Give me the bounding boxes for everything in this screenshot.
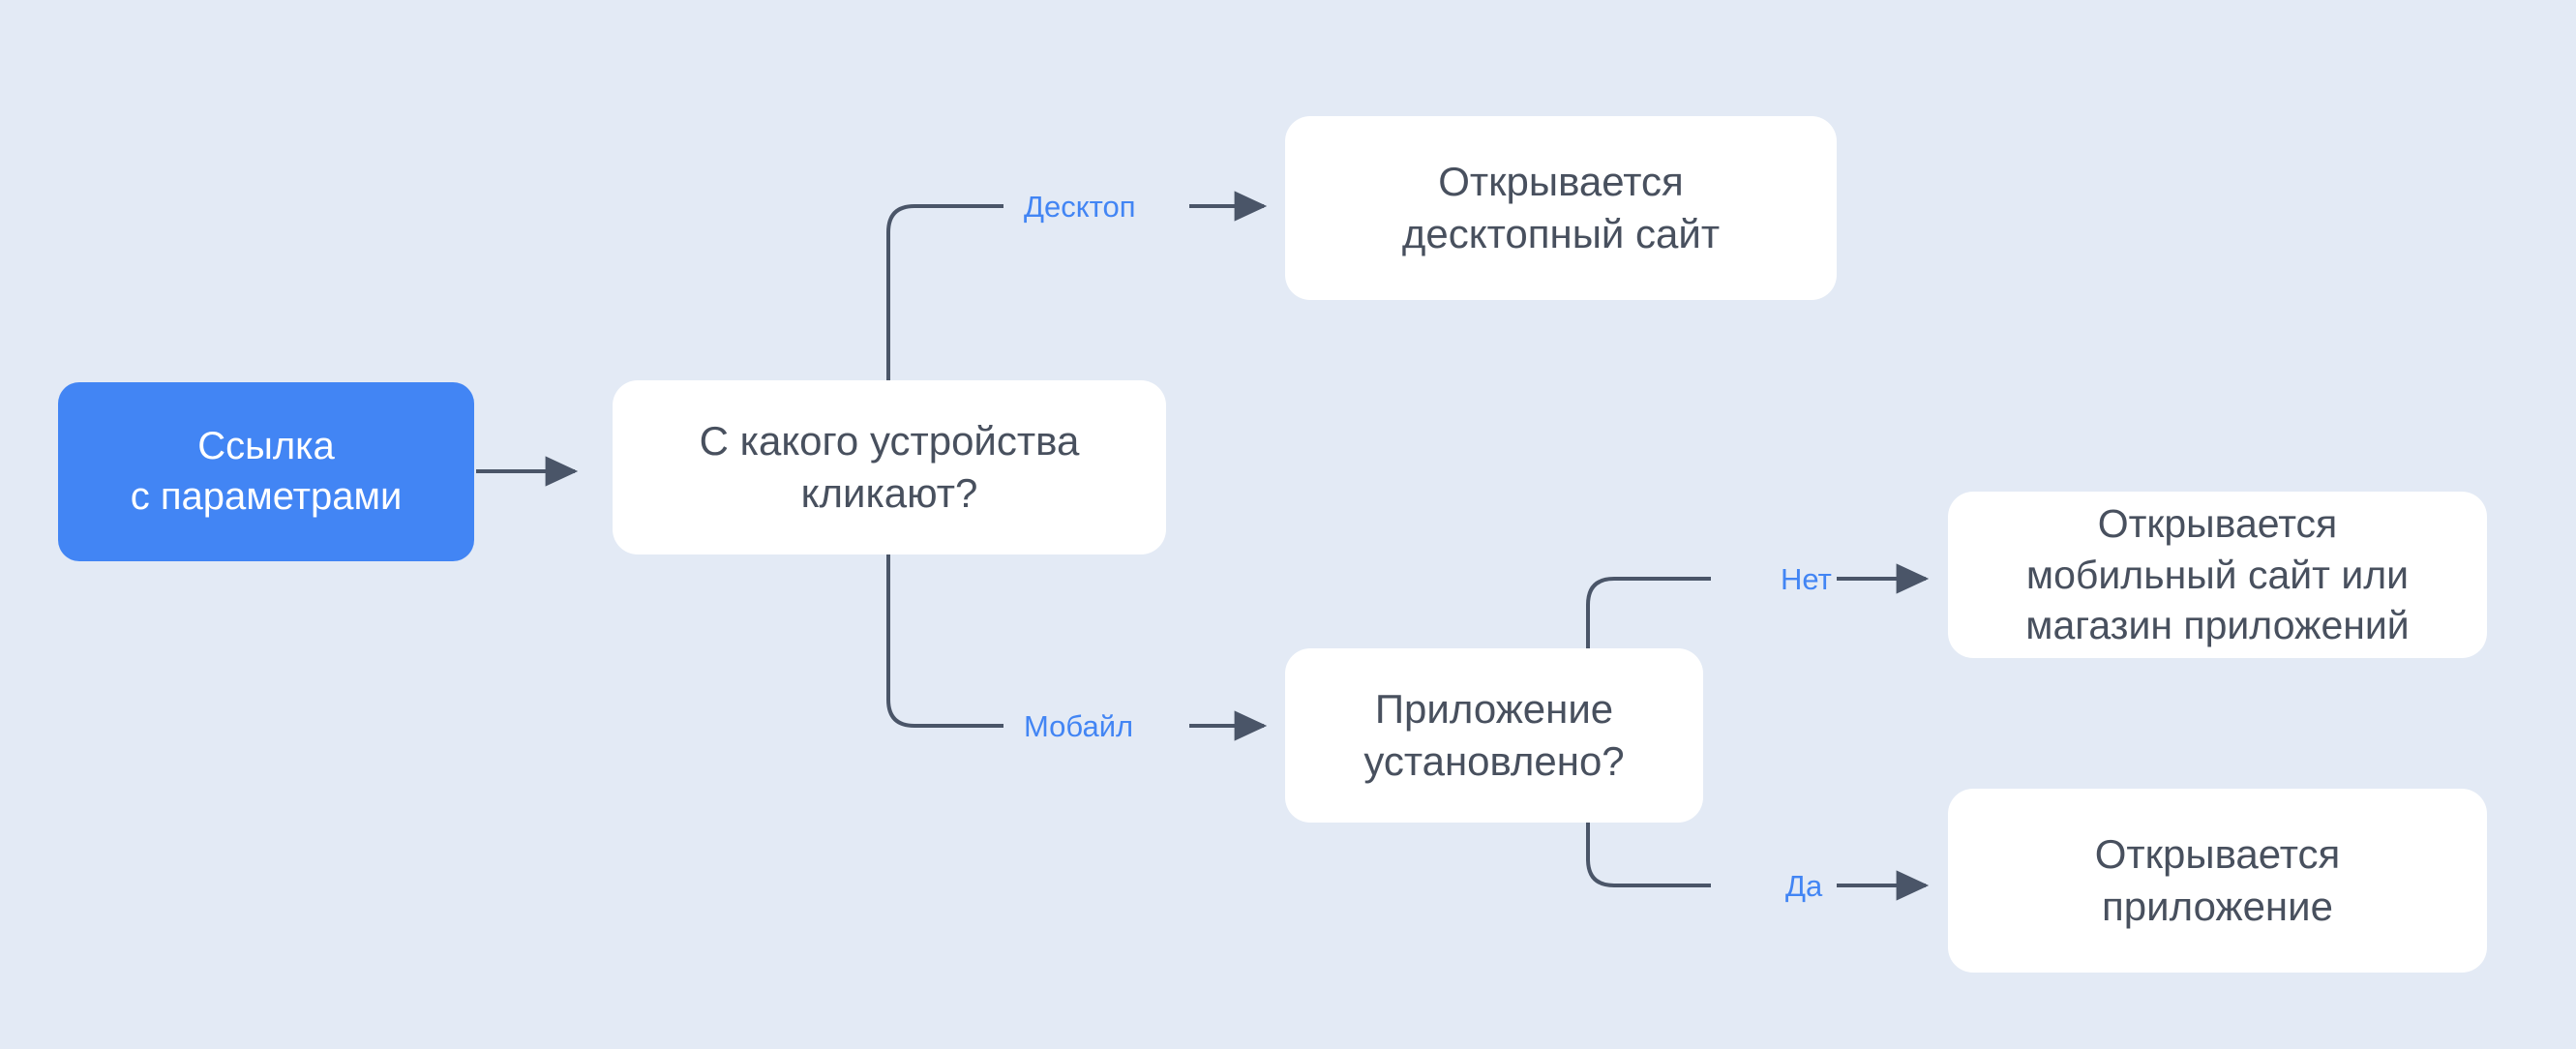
edge-label-desktop: Десктоп bbox=[1024, 192, 1136, 222]
node-link-with-parameters[interactable]: Ссылка с параметрами bbox=[58, 382, 474, 561]
flowchart-canvas: Ссылка с параметрами С какого устройства… bbox=[0, 0, 2576, 1049]
node-app-installed-question[interactable]: Приложение установлено? bbox=[1285, 648, 1703, 823]
connector-device-to-mobile bbox=[888, 554, 1264, 726]
node-mobile-site-result[interactable]: Открывается мобильный сайт или магазин п… bbox=[1948, 492, 2487, 658]
node-mobile-site-result-label: Открывается мобильный сайт или магазин п… bbox=[2025, 498, 2409, 650]
connector-app-to-mobile-site bbox=[1588, 579, 1926, 648]
node-app-result-label: Открывается приложение bbox=[2095, 828, 2341, 933]
node-link-with-parameters-label: Ссылка с параметрами bbox=[131, 422, 403, 521]
connector-app-to-app-result bbox=[1588, 823, 1926, 885]
node-device-question-label: С какого устройства кликают? bbox=[700, 415, 1080, 520]
node-app-result[interactable]: Открывается приложение bbox=[1948, 789, 2487, 973]
node-device-question[interactable]: С какого устройства кликают? bbox=[613, 380, 1166, 554]
edge-label-no: Нет bbox=[1781, 564, 1832, 594]
node-desktop-result[interactable]: Открывается десктопный сайт bbox=[1285, 116, 1837, 300]
edge-label-yes: Да bbox=[1785, 871, 1822, 901]
node-app-installed-question-label: Приложение установлено? bbox=[1363, 683, 1624, 788]
node-desktop-result-label: Открывается десктопный сайт bbox=[1402, 156, 1720, 260]
connector-device-to-desktop bbox=[888, 206, 1264, 380]
edge-label-mobile: Мобайл bbox=[1024, 711, 1133, 741]
